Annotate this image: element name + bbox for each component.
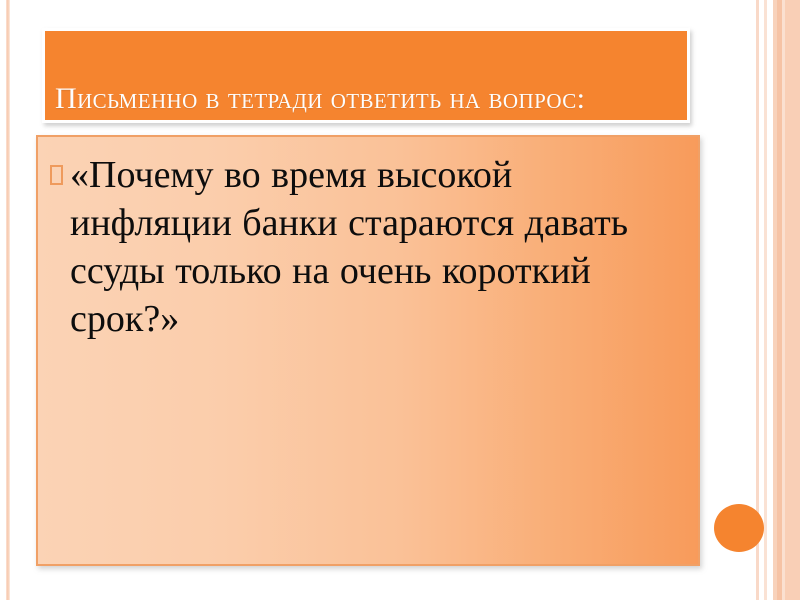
slide-body-placeholder: «Почему во время высокой инфляции банки … bbox=[36, 135, 700, 566]
stripe-8 bbox=[785, 0, 800, 600]
right-decorative-stripe-band bbox=[756, 0, 800, 600]
page-title: Письменно в тетради ответить на вопрос: bbox=[45, 82, 687, 120]
left-decorative-rule bbox=[6, 0, 10, 600]
slide-canvas: Письменно в тетради ответить на вопрос: … bbox=[0, 0, 800, 600]
slide-title-placeholder: Письменно в тетради ответить на вопрос: bbox=[42, 28, 690, 123]
body-question-text: «Почему во время высокой инфляции банки … bbox=[70, 151, 680, 343]
bullet-box-icon bbox=[50, 165, 63, 185]
corner-ellipse-decoration bbox=[714, 504, 764, 552]
list-item: «Почему во время высокой инфляции банки … bbox=[50, 151, 680, 343]
